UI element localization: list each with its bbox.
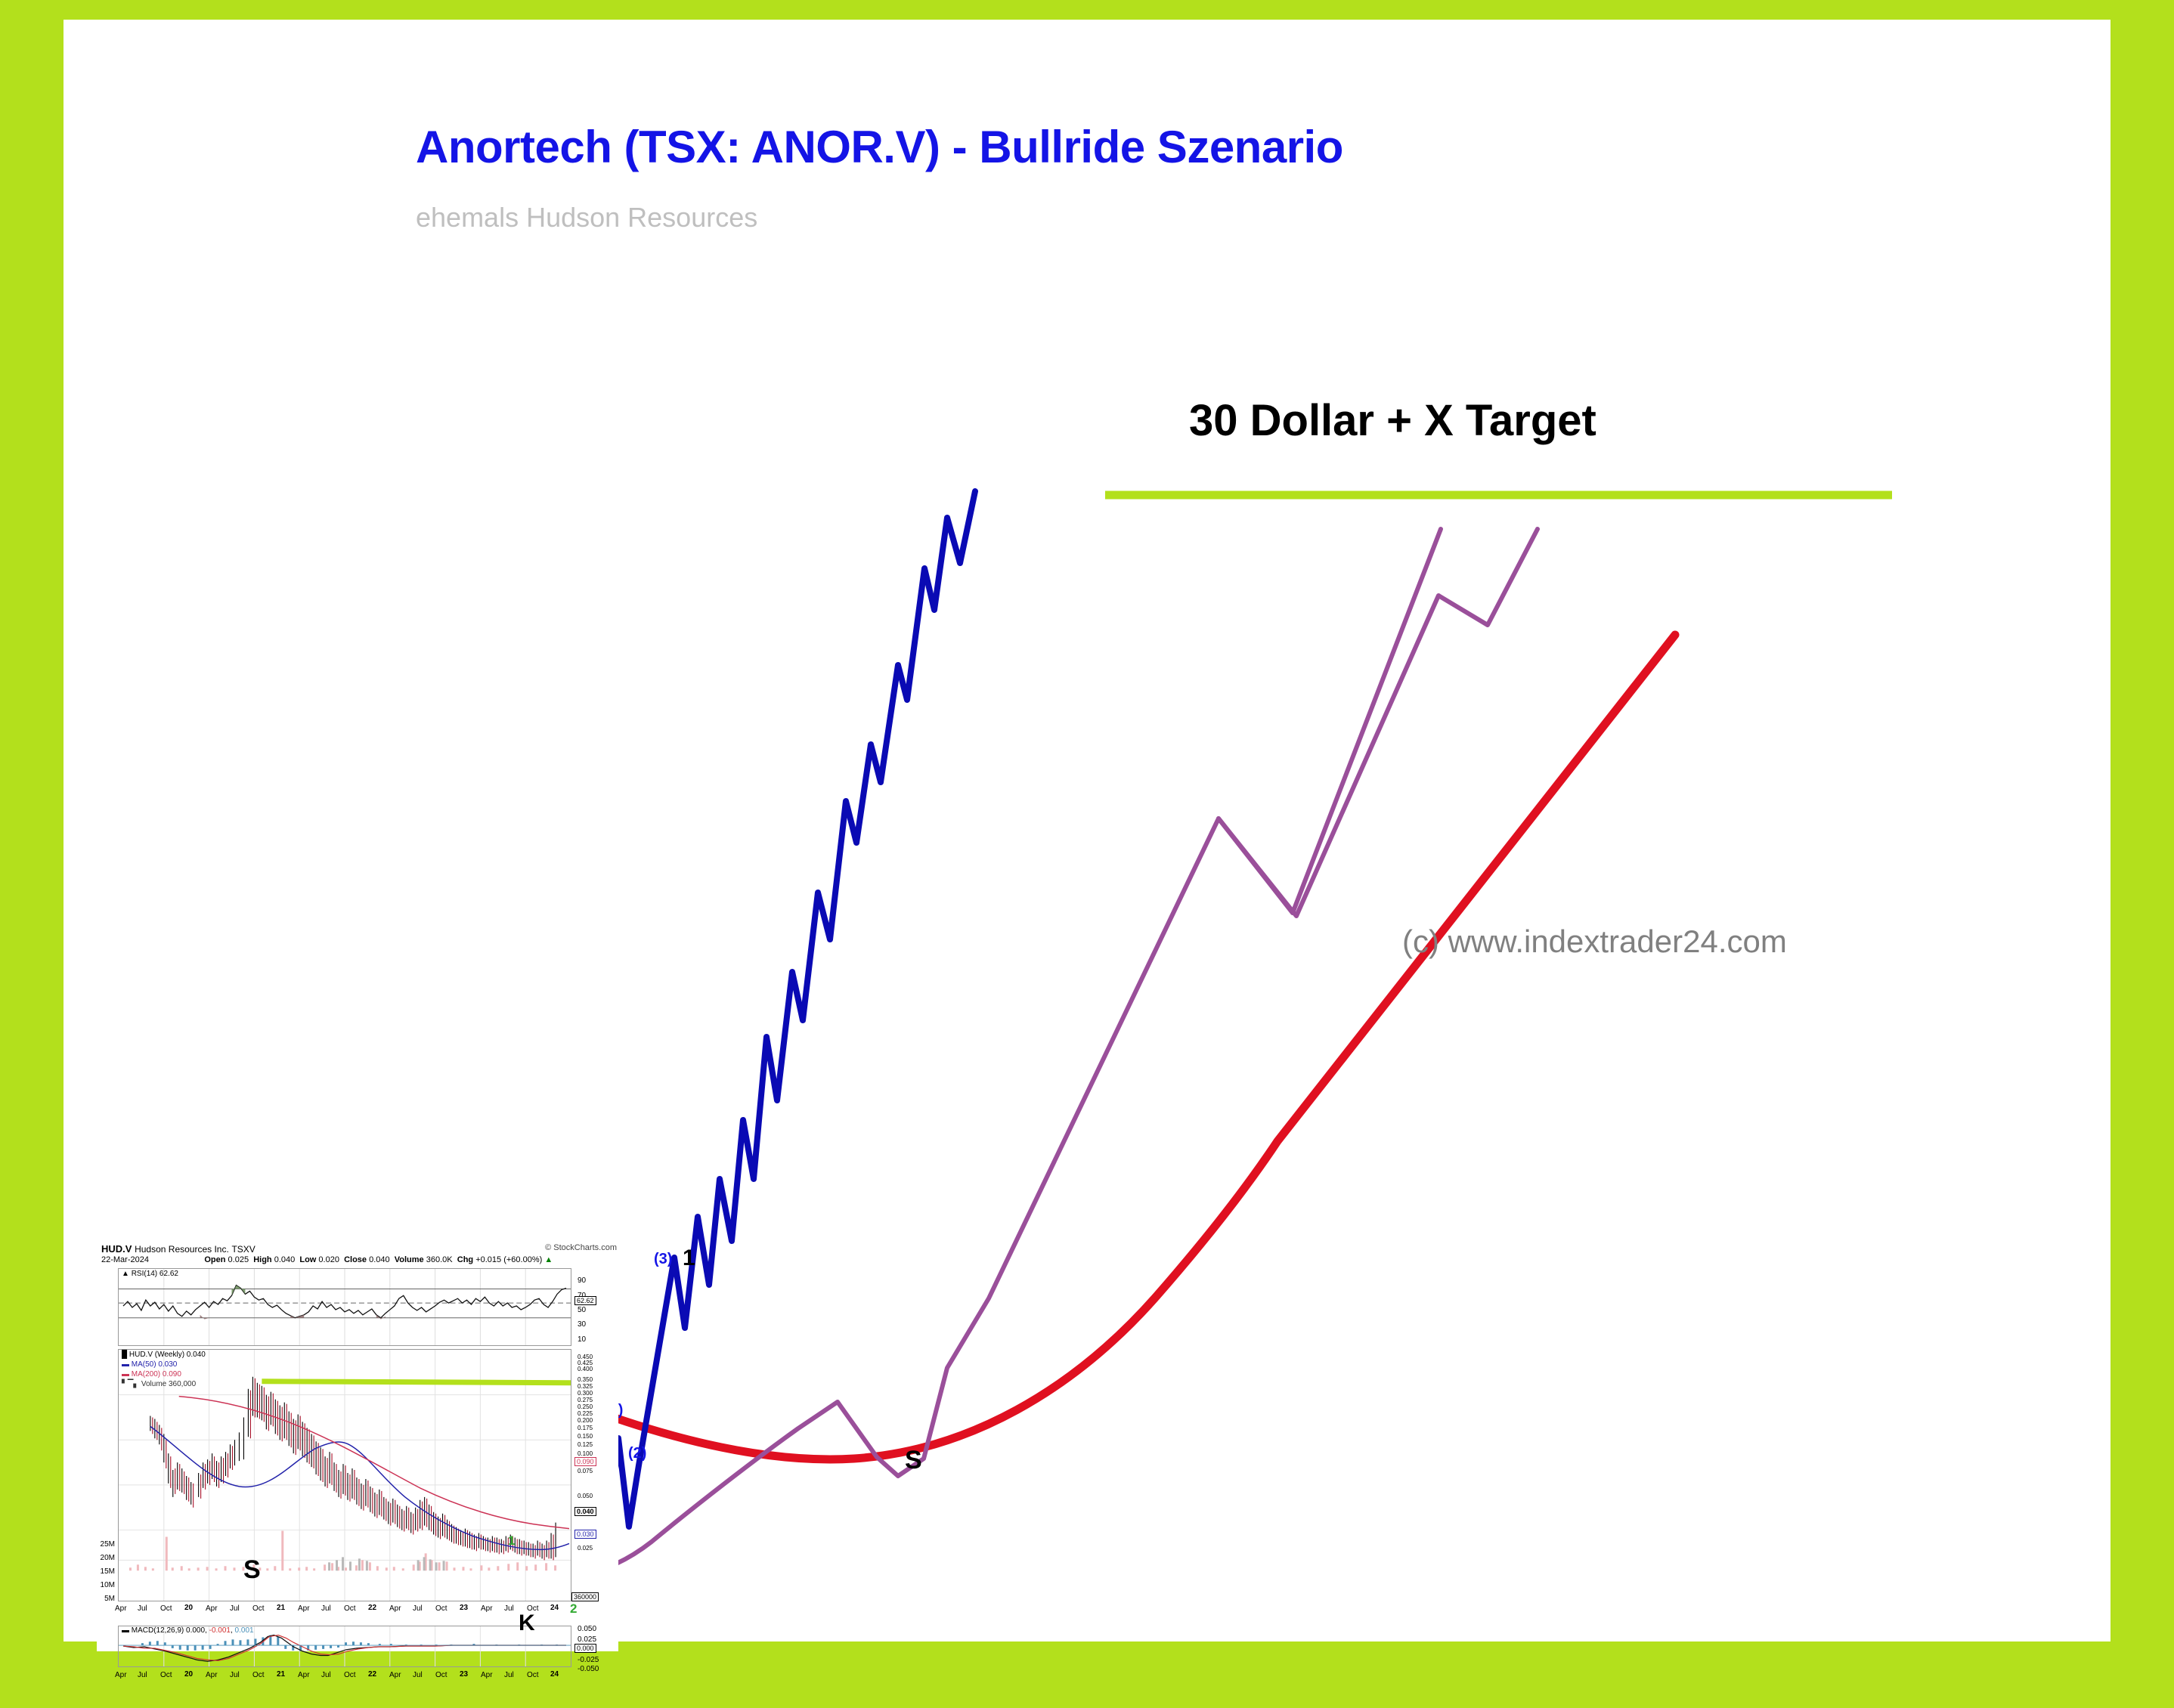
xaxis-label-8: Apr xyxy=(298,1604,310,1613)
wave-label-1-black: 1 xyxy=(683,1245,695,1271)
page-subtitle: ehemals Hudson Resources xyxy=(416,202,757,234)
xaxis2-label-13: Jul xyxy=(413,1671,423,1679)
price-tick-0100: 0.100 xyxy=(578,1450,593,1457)
candle-icon: █ xyxy=(122,1351,127,1359)
xaxis-label-13: Jul xyxy=(413,1604,423,1613)
xaxis2-label-15: 23 xyxy=(460,1670,468,1679)
price-marker-2: 2 xyxy=(570,1601,577,1617)
xaxis2-label-12: Apr xyxy=(389,1671,401,1679)
xaxis-label-3: 20 xyxy=(184,1604,193,1612)
price-tick-0400: 0.400 xyxy=(578,1366,593,1372)
high-value: 0.040 xyxy=(274,1255,296,1264)
price-tick-0250: 0.250 xyxy=(578,1403,593,1410)
chg-value: +0.015 (+60.00%) xyxy=(475,1255,542,1264)
volume-tag: 360000 xyxy=(571,1592,599,1601)
close-label: Close xyxy=(344,1255,367,1264)
resistance-line xyxy=(262,1382,571,1383)
price-tick-0350: 0.350 xyxy=(578,1376,593,1383)
price-legend-volume: ▘▔▖ Volume 360,000 xyxy=(122,1380,196,1388)
macd-swatch-icon: ▬ xyxy=(122,1626,129,1635)
open-value: 0.025 xyxy=(228,1255,249,1264)
price-tick-0200: 0.200 xyxy=(578,1417,593,1424)
price-legend-ma50: ▬ MA(50) 0.030 xyxy=(122,1360,177,1369)
xaxis-label-1: Jul xyxy=(138,1604,147,1613)
quote-date: 22-Mar-2024 xyxy=(101,1255,149,1264)
xaxis-label-4: Apr xyxy=(206,1604,218,1613)
macd-zero-tag: 0.000 xyxy=(574,1644,596,1653)
price-legend-ma200: ▬ MA(200) 0.090 xyxy=(122,1370,181,1378)
macd-marker-K: K xyxy=(519,1611,535,1636)
rsi-tick-30: 30 xyxy=(578,1320,586,1329)
stockcharts-snapshot: HUD.V Hudson Resources Inc. TSXV © Stock… xyxy=(97,1243,618,1651)
xaxis2-label-7: 21 xyxy=(277,1670,285,1679)
xaxis2-label-5: Jul xyxy=(230,1671,240,1679)
xaxis2-label-0: Apr xyxy=(115,1671,127,1679)
price-legend-main: █ HUD.V (Weekly) 0.040 xyxy=(122,1351,206,1359)
volume-value: 360.0K xyxy=(426,1255,453,1264)
rsi-tick-10: 10 xyxy=(578,1335,586,1344)
low-value: 0.020 xyxy=(318,1255,339,1264)
ma200-swatch-icon: ▬ xyxy=(122,1370,129,1378)
open-label: Open xyxy=(204,1255,225,1264)
ma50-line xyxy=(150,1426,569,1549)
price-tick-0075: 0.075 xyxy=(578,1468,593,1474)
volume-tick-25M: 25M xyxy=(94,1540,115,1549)
volume-tick-5M: 5M xyxy=(94,1595,115,1603)
ma50-swatch-icon: ▬ xyxy=(122,1360,129,1369)
high-label: High xyxy=(253,1255,271,1264)
xaxis2-label-4: Apr xyxy=(206,1671,218,1679)
wave-label-2-paren: (2) xyxy=(628,1445,646,1462)
price-tick-0150: 0.150 xyxy=(578,1433,593,1440)
ma200-price-tag: 0.090 xyxy=(574,1457,596,1466)
stockcharts-credit: © StockCharts.com xyxy=(545,1243,617,1252)
price-panel: █ HUD.V (Weekly) 0.040 ▬ MA(50) 0.030 ▬ … xyxy=(118,1349,571,1601)
copyright-watermark: (c) www.indextrader24.com xyxy=(1402,924,1787,960)
xaxis-label-15: 23 xyxy=(460,1604,468,1612)
close-value: 0.040 xyxy=(369,1255,390,1264)
xaxis2-label-14: Oct xyxy=(435,1671,447,1679)
xaxis-label-7: 21 xyxy=(277,1604,285,1612)
bullride-fast-line xyxy=(573,491,975,1560)
xaxis2-label-3: 20 xyxy=(184,1670,193,1679)
page-title: Anortech (TSX: ANOR.V) - Bullride Szenar… xyxy=(416,121,1343,173)
price-tick-0275: 0.275 xyxy=(578,1397,593,1403)
macd-panel: ▬ MACD(12,26,9) 0.000, -0.001, 0.001 xyxy=(118,1626,571,1667)
close-price-tag: 0.040 xyxy=(574,1507,596,1516)
rsi-current-tag: 62.62 xyxy=(574,1296,596,1305)
low-label: Low xyxy=(299,1255,316,1264)
bullride-mid-zigzag xyxy=(1219,529,1538,916)
wave-label-3: (3) xyxy=(654,1251,672,1268)
macd-tick-0025: 0.025 xyxy=(578,1635,596,1644)
xaxis-label-16: Apr xyxy=(481,1604,493,1613)
xaxis-label-5: Jul xyxy=(230,1604,240,1613)
bullride-slow-line xyxy=(573,635,1675,1459)
xaxis2-label-10: Oct xyxy=(344,1671,356,1679)
xaxis2-label-1: Jul xyxy=(138,1671,147,1679)
rsi-legend: ▲ RSI(14) 62.62 xyxy=(122,1270,178,1278)
ma200-line xyxy=(179,1397,569,1529)
price-tick-0175: 0.175 xyxy=(578,1425,593,1431)
xaxis-label-14: Oct xyxy=(435,1604,447,1613)
xaxis-label-17: Jul xyxy=(504,1604,514,1613)
volume-bars-icon: ▘▔▖ xyxy=(122,1380,139,1388)
wave-label-S: S xyxy=(905,1446,922,1475)
volume-label: Volume xyxy=(395,1255,424,1264)
macd-tick-0050: 0.050 xyxy=(578,1625,596,1633)
xaxis2-label-11: 22 xyxy=(368,1670,376,1679)
macd-legend: ▬ MACD(12,26,9) 0.000, -0.001, 0.001 xyxy=(122,1626,254,1635)
xaxis2-label-8: Apr xyxy=(298,1671,310,1679)
company-name: Hudson Resources Inc. xyxy=(135,1244,229,1255)
price-marker-1: 1 xyxy=(508,1533,515,1549)
price-tick-0125: 0.125 xyxy=(578,1441,593,1448)
stockchart-header: HUD.V Hudson Resources Inc. TSXV xyxy=(101,1243,255,1255)
price-tick-0225: 0.225 xyxy=(578,1410,593,1417)
volume-tick-10M: 10M xyxy=(94,1581,115,1589)
rsi-tick-50: 50 xyxy=(578,1306,586,1314)
xaxis2-label-18: Oct xyxy=(527,1671,539,1679)
target-price-label: 30 Dollar + X Target xyxy=(1189,395,1596,446)
xaxis-label-12: Apr xyxy=(389,1604,401,1613)
xaxis2-label-6: Oct xyxy=(252,1671,265,1679)
xaxis-label-19: 24 xyxy=(550,1604,559,1612)
xaxis-label-11: 22 xyxy=(368,1604,376,1612)
price-tick-0300: 0.300 xyxy=(578,1390,593,1397)
ticker-symbol: HUD.V xyxy=(101,1243,132,1255)
chg-label: Chg xyxy=(457,1255,473,1264)
xaxis-label-2: Oct xyxy=(160,1604,172,1613)
rsi-tick-90: 90 xyxy=(578,1276,586,1285)
bullride-mid-line xyxy=(579,529,1441,1576)
xaxis2-label-9: Jul xyxy=(321,1671,331,1679)
price-tick-0025: 0.025 xyxy=(578,1545,593,1552)
rsi-icon: ▲ xyxy=(122,1270,129,1278)
quote-line: 22-Mar-2024 Open 0.025 High 0.040 Low 0.… xyxy=(101,1255,553,1264)
price-tick-0050: 0.050 xyxy=(578,1493,593,1499)
xaxis2-label-2: Oct xyxy=(160,1671,172,1679)
xaxis-label-10: Oct xyxy=(344,1604,356,1613)
xaxis-label-0: Apr xyxy=(115,1604,127,1613)
macd-tick-m0050: -0.050 xyxy=(578,1665,599,1673)
chg-up-arrow-icon: ▲ xyxy=(544,1255,553,1264)
macd-tick-m0025: -0.025 xyxy=(578,1656,599,1664)
xaxis-label-6: Oct xyxy=(252,1604,265,1613)
price-marker-S: S xyxy=(243,1555,261,1585)
xaxis2-label-17: Jul xyxy=(504,1671,514,1679)
volume-tick-15M: 15M xyxy=(94,1567,115,1576)
xaxis2-label-19: 24 xyxy=(550,1670,559,1679)
xaxis2-label-16: Apr xyxy=(481,1671,493,1679)
volume-tick-20M: 20M xyxy=(94,1554,115,1562)
ma50-price-tag: 0.030 xyxy=(574,1530,596,1539)
xaxis-label-9: Jul xyxy=(321,1604,331,1613)
rsi-panel: ▲ RSI(14) 62.62 xyxy=(118,1268,571,1346)
exchange-name: TSXV xyxy=(231,1244,255,1255)
price-tick-0325: 0.325 xyxy=(578,1383,593,1390)
